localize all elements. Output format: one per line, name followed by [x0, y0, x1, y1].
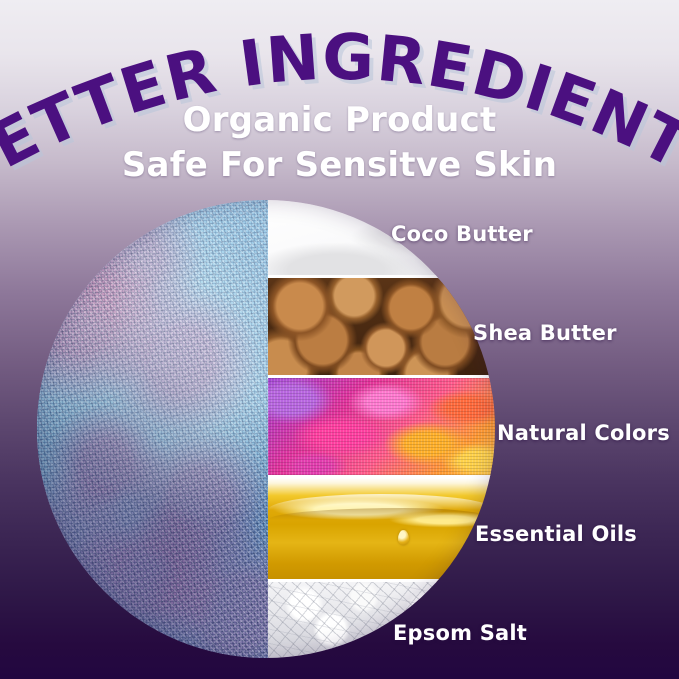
ingredient-label-essential-oils: Essential Oils [475, 522, 637, 546]
bath-bomb-circle [37, 200, 495, 658]
ingredient-label-epsom-salt: Epsom Salt [393, 621, 527, 645]
ingredient-label-shea-butter: Shea Butter [473, 321, 617, 345]
ingredient-label-natural-colors: Natural Colors [497, 421, 670, 445]
subtitle-line-2: Safe For Sensitve Skin [0, 145, 679, 185]
bath-bomb-shading [37, 200, 268, 658]
bath-bomb-left-half [37, 200, 268, 658]
ingredient-band-stack [268, 200, 495, 658]
product-infographic: BETTER INGREDIENTS BETTER INGREDIENTS Or… [0, 0, 679, 679]
band-shea-butter [268, 278, 495, 378]
salt-crystal-overlay [268, 582, 495, 658]
subtitle-line-1: Organic Product [0, 100, 679, 140]
oil-droplet [398, 530, 409, 545]
band-essential-oils [268, 478, 495, 582]
powder-grain-overlay [268, 378, 495, 478]
band-natural-colors [268, 378, 495, 478]
band-epsom-salt [268, 582, 495, 658]
ingredient-label-coco-butter: Coco Butter [391, 222, 533, 246]
